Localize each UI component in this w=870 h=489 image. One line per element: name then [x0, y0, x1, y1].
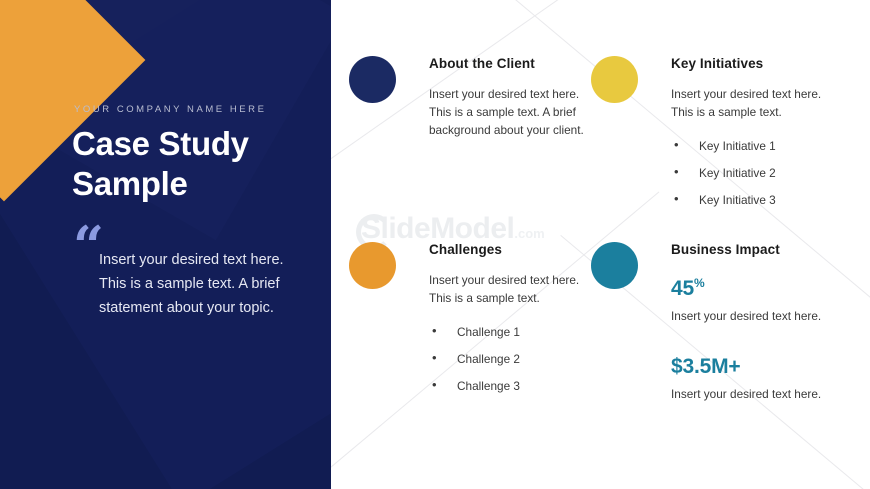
list-item: Challenge 1	[429, 323, 589, 341]
content-block-description: Insert your desired text here. This is a…	[671, 85, 846, 121]
content-block-body: About the Client Insert your desired tex…	[429, 56, 589, 139]
content-block-title: About the Client	[429, 56, 589, 71]
list-item: Key Initiative 3	[671, 191, 846, 209]
stat-number: $3.5M+	[671, 355, 740, 378]
slide-canvas: YOUR COMPANY NAME HERE Case Study Sample…	[0, 0, 870, 489]
bullet-list: Key Initiative 1 Key Initiative 2 Key In…	[671, 137, 846, 209]
list-item: Challenge 2	[429, 350, 589, 368]
stat-suffix: %	[694, 276, 704, 290]
content-block-body: Business Impact 45% Insert your desired …	[671, 242, 846, 403]
stat-caption: Insert your desired text here.	[671, 386, 846, 403]
left-title-panel: YOUR COMPANY NAME HERE Case Study Sample…	[0, 0, 331, 489]
quote-text: Insert your desired text here. This is a…	[99, 248, 304, 320]
content-block-title: Key Initiatives	[671, 56, 846, 71]
list-item: Key Initiative 2	[671, 164, 846, 182]
bullet-list: Challenge 1 Challenge 2 Challenge 3	[429, 323, 589, 395]
stat-number: 45	[671, 277, 694, 300]
content-block-description: Insert your desired text here. This is a…	[429, 85, 589, 139]
watermark-text: SlideModel	[361, 212, 514, 245]
content-block-title: Challenges	[429, 242, 589, 257]
stat-item: 45% Insert your desired text here.	[671, 271, 846, 325]
company-name-kicker: YOUR COMPANY NAME HERE	[74, 104, 266, 115]
watermark: SlideModel.com	[361, 212, 545, 246]
bullet-dot-icon	[591, 56, 638, 103]
bullet-dot-icon	[591, 242, 638, 289]
bullet-dot-icon	[349, 242, 396, 289]
content-block-title: Business Impact	[671, 242, 846, 257]
list-item: Challenge 3	[429, 377, 589, 395]
list-item: Key Initiative 1	[671, 137, 846, 155]
content-block-body: Key Initiatives Insert your desired text…	[671, 56, 846, 218]
stat-value: $3.5M+	[671, 349, 846, 379]
watermark-suffix: .com	[514, 226, 544, 241]
stat-caption: Insert your desired text here.	[671, 308, 846, 325]
content-block-body: Challenges Insert your desired text here…	[429, 242, 589, 404]
page-title: Case Study Sample	[72, 124, 322, 204]
content-block-description: Insert your desired text here. This is a…	[429, 271, 589, 307]
stat-value: 45%	[671, 271, 846, 301]
stat-item: $3.5M+ Insert your desired text here.	[671, 349, 846, 403]
bullet-dot-icon	[349, 56, 396, 103]
